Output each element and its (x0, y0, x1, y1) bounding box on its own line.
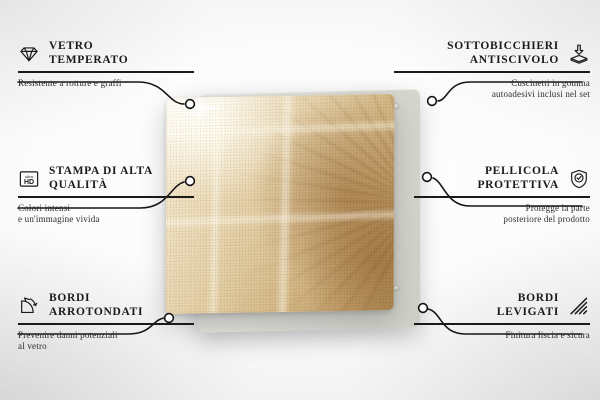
callout-stampa-alta-qualita: ultra HD STAMPA DI ALTA QUALITÀ Colori i… (18, 165, 194, 226)
callout-sottobicchieri-antiscivolo: SOTTOBICCHIERI ANTISCIVOLO Cuscinetti in… (394, 40, 590, 101)
shield-check-icon (568, 168, 590, 190)
callout-title-line: SOTTOBICCHIERI (447, 40, 559, 52)
callout-rule (414, 196, 590, 198)
callout-bordi-levigati: BORDI LEVIGATI Finitura liscia e sicura (414, 292, 590, 341)
callout-rule (414, 323, 590, 325)
callout-subtitle-line: autoadesivi inclusi nel set (492, 89, 590, 99)
callout-subtitle-line: Protegge la parte (526, 203, 590, 213)
callout-title-line: STAMPA DI ALTA (49, 165, 153, 177)
panel-rivet (394, 286, 399, 291)
panel-rivet (394, 104, 399, 109)
callout-rule (18, 196, 194, 198)
callout-rule (18, 323, 194, 325)
callout-title-line: ANTISCIVOLO (470, 54, 559, 66)
callout-vetro-temperato: VETRO TEMPERATO Resistente a rotture e g… (18, 40, 194, 89)
glass-gloss-reflection (166, 94, 395, 314)
rounded-corner-icon (18, 295, 40, 317)
hatch-lines-icon (568, 295, 590, 317)
product-feature-infographic: VETRO TEMPERATO Resistente a rotture e g… (0, 0, 600, 400)
callout-subtitle-line: Colori intensi (18, 203, 70, 213)
anti-slip-pad-icon (568, 43, 590, 65)
callout-bordi-arrotondati: BORDI ARROTONDATI Prevenire danni potenz… (18, 292, 194, 353)
callout-rule (394, 71, 590, 73)
glass-board-front (166, 94, 395, 314)
callout-pellicola-protettiva: PELLICOLA PROTETTIVA Protegge la parte p… (414, 165, 590, 226)
callout-subtitle-line: al vetro (18, 341, 47, 351)
sparkle-highlight (182, 95, 216, 122)
ultra-hd-icon: ultra HD (18, 168, 40, 190)
callout-title-line: PELLICOLA (485, 165, 559, 177)
callout-subtitle-line: Prevenire danni potenziali (18, 330, 118, 340)
callout-subtitle-line: Resistente a rotture e graffi (18, 78, 122, 88)
callout-subtitle-line: Finitura liscia e sicura (505, 330, 590, 340)
callout-subtitle-line: posteriore del prodotto (503, 214, 590, 224)
callout-subtitle-line: Cuscinetti in gomma (511, 78, 590, 88)
diamond-icon (18, 43, 40, 65)
callout-title-line: BORDI (49, 292, 90, 304)
callout-title-line: VETRO (49, 40, 93, 52)
callout-title-line: TEMPERATO (49, 54, 128, 66)
callout-title-line: BORDI (518, 292, 559, 304)
callout-subtitle-line: e un'immagine vivida (18, 214, 100, 224)
callout-title-line: ARROTONDATI (49, 306, 143, 318)
svg-text:HD: HD (24, 179, 34, 186)
callout-title-line: PROTETTIVA (477, 179, 559, 191)
callout-rule (18, 71, 194, 73)
callout-title-line: LEVIGATI (497, 306, 559, 318)
callout-title-line: QUALITÀ (49, 179, 108, 191)
